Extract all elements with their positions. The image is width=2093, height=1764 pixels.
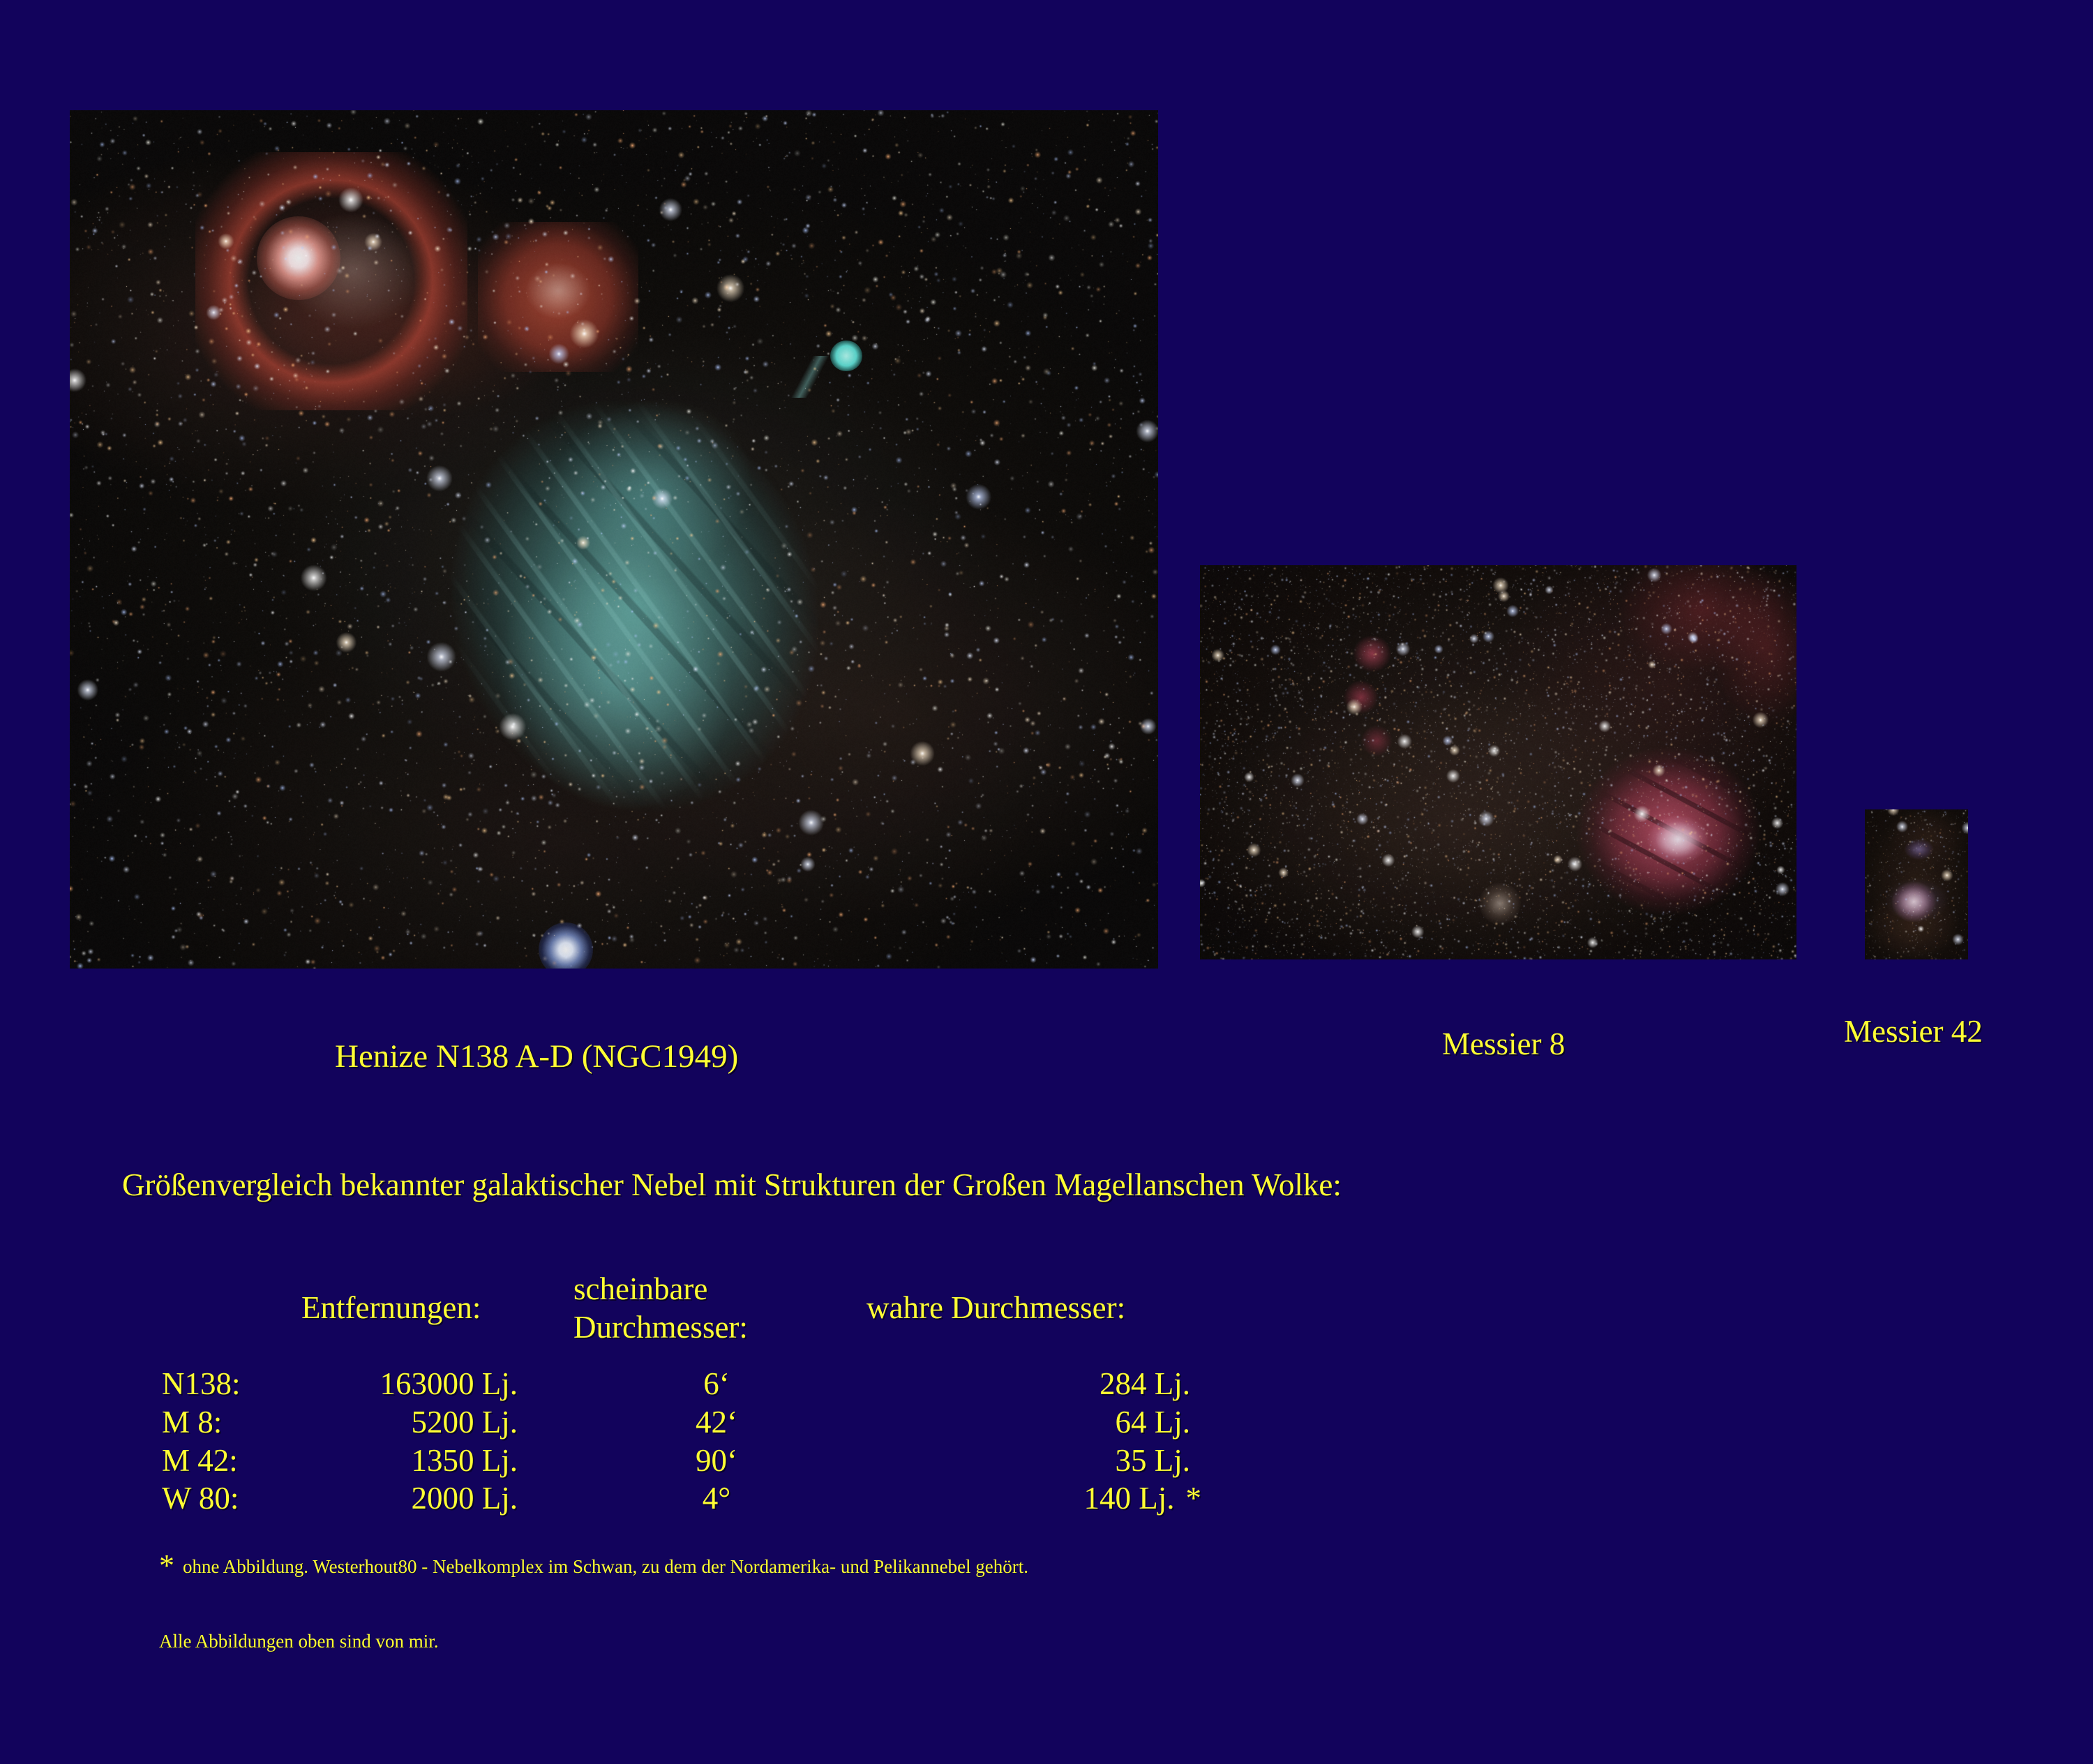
cell-distance: 5200 Lj.: [301, 1403, 567, 1442]
table-row: W 80: 2000 Lj. 4° 140 Lj.*: [147, 1479, 1240, 1518]
star-overlay: [1865, 809, 1968, 959]
table-row: M 8: 5200 Lj. 42‘ 64 Lj.: [147, 1403, 1240, 1442]
footnote-line: *ohne Abbildung. Westerhout80 - Nebelkom…: [159, 1548, 1028, 1583]
comparison-heading: Größenvergleich bekannter galaktischer N…: [122, 1167, 1342, 1203]
cell-true: 35 Lj.: [867, 1442, 1240, 1480]
image-messier-42: [1865, 809, 1968, 959]
image-messier-8: [1200, 565, 1796, 959]
cell-apparent: 6‘: [567, 1365, 867, 1403]
slide-canvas: Henize N138 A-D (NGC1949) Messier 8 Mess…: [0, 0, 2093, 1764]
table-header-row: Entfernungen: scheinbare Durchmesser: wa…: [147, 1270, 1240, 1365]
header-object: [147, 1270, 301, 1365]
cell-object: W 80:: [147, 1479, 301, 1518]
footnote-text: ohne Abbildung. Westerhout80 - Nebelkomp…: [183, 1556, 1028, 1577]
cell-apparent: 42‘: [567, 1403, 867, 1442]
cell-object: N138:: [147, 1365, 301, 1403]
header-apparent-diameter: scheinbare Durchmesser:: [567, 1270, 867, 1365]
cell-true: 64 Lj.: [867, 1403, 1240, 1442]
cell-object: M 8:: [147, 1403, 301, 1442]
comparison-table: Entfernungen: scheinbare Durchmesser: wa…: [147, 1270, 1240, 1518]
credit-line: Alle Abbildungen oben sind von mir.: [159, 1631, 438, 1652]
table-row: N138: 163000 Lj. 6‘ 284 Lj.: [147, 1365, 1240, 1403]
header-distance: Entfernungen:: [301, 1270, 567, 1365]
cell-object: M 42:: [147, 1442, 301, 1480]
asterisk-icon: *: [159, 1548, 174, 1583]
caption-messier-8: Messier 8: [1442, 1026, 1565, 1062]
cell-distance: 2000 Lj.: [301, 1479, 567, 1518]
cell-distance: 163000 Lj.: [301, 1365, 567, 1403]
cell-apparent: 90‘: [567, 1442, 867, 1480]
footnote-marker: *: [1186, 1481, 1202, 1516]
star-overlay: [70, 110, 1158, 969]
star-overlay: [1200, 565, 1796, 959]
table-row: M 42: 1350 Lj. 90‘ 35 Lj.: [147, 1442, 1240, 1480]
cell-true: 284 Lj.: [867, 1365, 1240, 1403]
caption-henize-n138: Henize N138 A-D (NGC1949): [335, 1038, 738, 1075]
cell-apparent: 4°: [567, 1479, 867, 1518]
image-henize-n138: [70, 110, 1158, 969]
header-true-diameter: wahre Durchmesser:: [867, 1270, 1240, 1365]
caption-messier-42: Messier 42: [1844, 1013, 1983, 1049]
cell-distance: 1350 Lj.: [301, 1442, 567, 1480]
cell-true: 140 Lj.*: [867, 1479, 1240, 1518]
